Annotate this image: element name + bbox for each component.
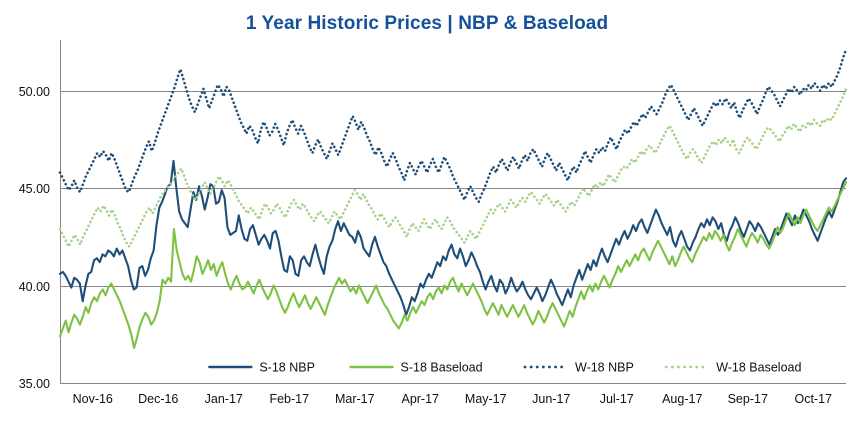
series-s-18-nbp xyxy=(60,161,846,315)
gridlines xyxy=(60,40,846,384)
x-tick-label: Nov-16 xyxy=(73,392,113,406)
x-tick-label: May-17 xyxy=(465,392,507,406)
x-tick-label: Aug-17 xyxy=(662,392,702,406)
price-line-chart: 35.0040.0045.0050.00 Nov-16Dec-16Jan-17F… xyxy=(0,0,854,424)
y-tick-label: 35.00 xyxy=(19,377,50,391)
x-tick-label: Jan-17 xyxy=(205,392,243,406)
series-w-18-baseload xyxy=(60,89,846,247)
x-axis-tick-labels: Nov-16Dec-16Jan-17Feb-17Mar-17Apr-17May-… xyxy=(73,392,832,406)
x-tick-label: Jul-17 xyxy=(600,392,634,406)
x-tick-label: Oct-17 xyxy=(794,392,832,406)
y-tick-label: 45.00 xyxy=(19,182,50,196)
series-w-18-nbp xyxy=(60,50,846,202)
legend-label: W-18 Baseload xyxy=(716,361,801,375)
legend-label: W-18 NBP xyxy=(575,361,634,375)
data-series-group xyxy=(60,50,846,348)
x-tick-label: Jun-17 xyxy=(532,392,570,406)
x-tick-label: Dec-16 xyxy=(138,392,178,406)
x-tick-label: Apr-17 xyxy=(401,392,439,406)
chart-container: 1 Year Historic Prices | NBP & Baseload … xyxy=(0,0,854,424)
x-tick-label: Mar-17 xyxy=(335,392,375,406)
legend-label: S-18 Baseload xyxy=(401,361,483,375)
y-tick-label: 50.00 xyxy=(19,85,50,99)
x-tick-label: Sep-17 xyxy=(728,392,768,406)
chart-legend: S-18 NBPS-18 BaseloadW-18 NBPW-18 Baselo… xyxy=(209,361,801,375)
x-tick-label: Feb-17 xyxy=(269,392,309,406)
legend-label: S-18 NBP xyxy=(259,361,315,375)
y-axis-tick-labels: 35.0040.0045.0050.00 xyxy=(19,85,50,391)
y-tick-label: 40.00 xyxy=(19,280,50,294)
